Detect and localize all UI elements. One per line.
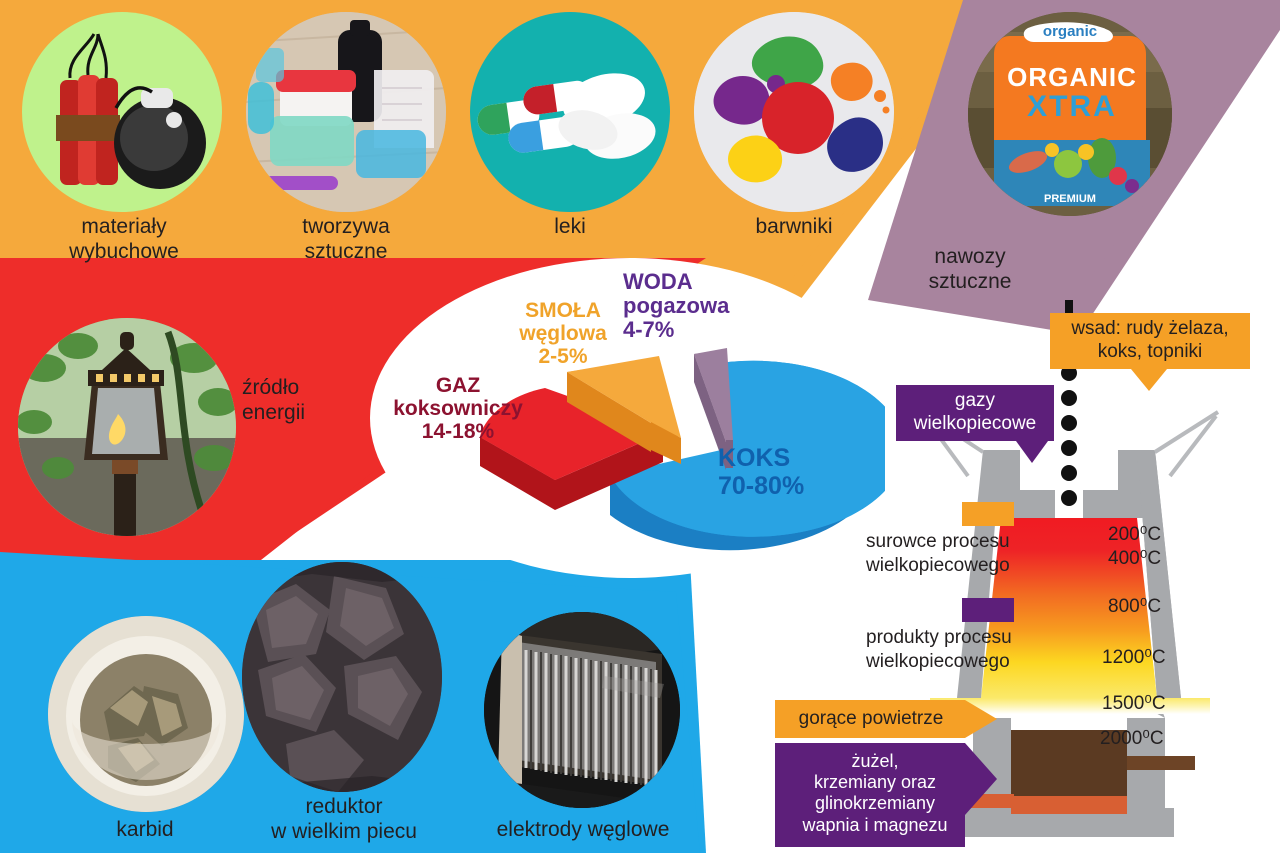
furnace-iron-tap <box>1127 756 1195 770</box>
legend-swatch-produkty <box>962 598 1014 622</box>
flag-zuzel-text: żużel, krzemiany oraz glinokrzemiany wap… <box>775 751 975 836</box>
plastic-containers-icon <box>246 12 446 212</box>
bubble-elektrody-weglowe <box>484 612 680 808</box>
infographic-root: organic ORGANIC XTRA PREMIUM materiały w… <box>0 0 1280 853</box>
flag-zuzel: żużel, krzemiany oraz glinokrzemiany wap… <box>775 743 997 847</box>
bubble-reduktor <box>242 562 442 792</box>
furnace-temp-400: 400⁰C <box>1108 547 1161 570</box>
bubble-zrodlo-energii <box>18 318 236 536</box>
legend-label-produkty: produkty procesu wielkopiecowego <box>866 626 1012 674</box>
pie-label-woda: WODA pogazowa 4-7% <box>623 270 729 343</box>
pie-label-gaz: GAZ koksowniczy 14-18% <box>386 374 530 443</box>
flag-gorace-powietrze: gorące powietrze <box>775 700 997 738</box>
pie-label-smola-value: 2-5% <box>538 345 587 368</box>
pie-chart <box>395 330 885 580</box>
furnace-temp-800: 800⁰C <box>1108 595 1161 618</box>
furnace-slag-layer <box>1011 796 1127 814</box>
label-elektrody-weglowe: elektrody węglowe <box>467 818 699 843</box>
bubble-barwniki <box>694 12 894 212</box>
gas-street-lamp-icon <box>18 318 236 536</box>
svg-text:organic: organic <box>1043 23 1097 40</box>
label-barwniki: barwniki <box>704 215 884 240</box>
callout-wsad-tail <box>1131 369 1167 391</box>
carbon-electrodes-icon <box>484 612 680 808</box>
furnace-temp-2000: 2000⁰C <box>1100 727 1164 750</box>
dynamite-bomb-icon <box>22 12 222 212</box>
pills-capsules-icon <box>470 12 670 212</box>
pie-label-woda-value: 4-7% <box>623 317 674 342</box>
callout-wsad: wsad: rudy żelaza, koks, topniki <box>1050 313 1250 369</box>
bubble-karbid <box>48 616 244 812</box>
coke-lumps-icon <box>242 562 442 792</box>
furnace-temp-200: 200⁰C <box>1108 523 1161 546</box>
callout-gazy-tail <box>1016 441 1048 463</box>
fertiliser-bag-icon: organic ORGANIC XTRA PREMIUM <box>968 12 1172 216</box>
pie-label-gaz-value: 14-18% <box>422 420 494 443</box>
pie-label-woda-text: WODA pogazowa <box>623 269 729 318</box>
legend-swatch-surowce <box>962 502 1014 526</box>
label-zrodlo-energii: źródło energii <box>242 376 305 426</box>
svg-text:XTRA: XTRA <box>1027 90 1117 123</box>
label-karbid: karbid <box>60 818 230 843</box>
furnace-temp-1500: 1500⁰C <box>1102 692 1166 715</box>
bubble-leki <box>470 12 670 212</box>
carbide-bowl-icon <box>48 616 244 812</box>
label-reduktor: reduktor w wielkim piecu <box>254 795 434 845</box>
flag-gorace-powietrze-text: gorące powietrze <box>775 708 967 730</box>
pie-label-koks-value: 70-80% <box>718 472 804 500</box>
legend-label-surowce: surowce procesu wielkopiecowego <box>866 530 1010 578</box>
bubble-materialy-wybuchowe <box>22 12 222 212</box>
svg-text:ORGANIC: ORGANIC <box>1007 62 1137 92</box>
pie-label-smola-text: SMOŁA węglowa <box>519 299 607 345</box>
callout-gazy-wielkopiecowe: gazy wielkopiecowe <box>896 385 1054 441</box>
label-tworzywa-sztuczne: tworzywa sztuczne <box>256 215 436 265</box>
pie-label-koks-text: KOKS <box>718 444 790 472</box>
label-leki: leki <box>480 215 660 240</box>
label-materialy-wybuchowe: materiały wybuchowe <box>34 215 214 265</box>
pie-label-smola: SMOŁA węglowa 2-5% <box>508 299 618 368</box>
furnace-temp-1200: 1200⁰C <box>1102 646 1166 669</box>
colour-dye-blobs-icon <box>694 12 894 212</box>
pie-label-gaz-text: GAZ koksowniczy <box>393 374 523 420</box>
label-nawozy-sztuczne: nawozy sztuczne <box>880 245 1060 295</box>
bubble-tworzywa-sztuczne <box>246 12 446 212</box>
svg-text:PREMIUM: PREMIUM <box>1044 193 1096 205</box>
pie-label-koks: KOKS 70-80% <box>718 445 804 500</box>
bubble-nawozy-sztuczne: organic ORGANIC XTRA PREMIUM <box>968 12 1172 216</box>
